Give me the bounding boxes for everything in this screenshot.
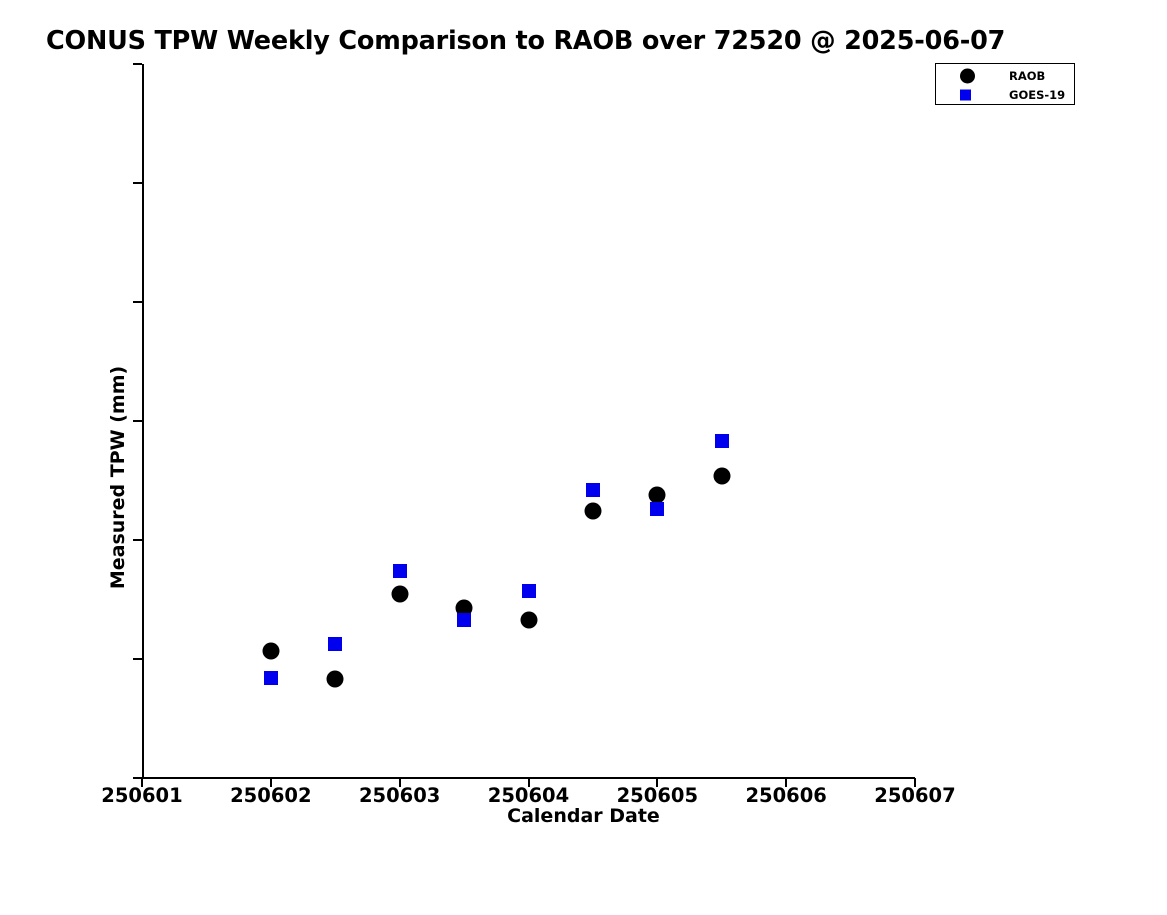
x-axis-tick-label: 250607: [874, 784, 955, 807]
x-axis-tick-label: 250602: [230, 784, 311, 807]
legend-label-goes19: GOES-19: [1009, 88, 1065, 102]
chart-figure: CONUS TPW Weekly Comparison to RAOB over…: [0, 0, 1167, 875]
data-point-goes-19: [264, 671, 278, 685]
data-point-goes-19: [457, 613, 471, 627]
chart-title: CONUS TPW Weekly Comparison to RAOB over…: [46, 26, 1005, 56]
y-axis-label-wrapper: Measured TPW (mm): [98, 0, 138, 875]
legend-label-raob: RAOB: [1009, 69, 1045, 83]
data-point-raob: [713, 467, 730, 484]
y-axis-tick: [133, 301, 142, 303]
x-axis-label: Calendar Date: [0, 805, 1167, 827]
plot-area: [142, 64, 915, 778]
y-axis-tick: [133, 658, 142, 660]
data-point-goes-19: [586, 483, 600, 497]
data-point-goes-19: [522, 584, 536, 598]
data-point-goes-19: [715, 434, 729, 448]
x-axis-tick-label: 250604: [488, 784, 569, 807]
x-axis-tick-label: 250606: [745, 784, 826, 807]
x-axis-tick-label: 250603: [359, 784, 440, 807]
data-point-raob: [262, 642, 279, 659]
black-circle-marker-icon: [960, 68, 975, 83]
x-axis-tick-label: 250605: [617, 784, 698, 807]
legend-entry-goes19: GOES-19: [936, 84, 1076, 105]
x-axis-tick-label: 250601: [101, 784, 182, 807]
blue-square-marker-icon: [960, 89, 971, 100]
y-axis-tick: [133, 539, 142, 541]
data-point-raob: [584, 503, 601, 520]
data-point-raob: [649, 486, 666, 503]
data-point-raob: [327, 671, 344, 688]
data-point-goes-19: [393, 564, 407, 578]
y-axis-tick: [133, 182, 142, 184]
y-axis-tick: [133, 63, 142, 65]
legend-entry-raob: RAOB: [936, 65, 1076, 86]
data-point-raob: [391, 585, 408, 602]
data-point-goes-19: [650, 502, 664, 516]
data-point-goes-19: [328, 637, 342, 651]
data-point-raob: [520, 611, 537, 628]
y-axis-tick: [133, 420, 142, 422]
chart-legend: RAOB GOES-19: [935, 63, 1075, 105]
